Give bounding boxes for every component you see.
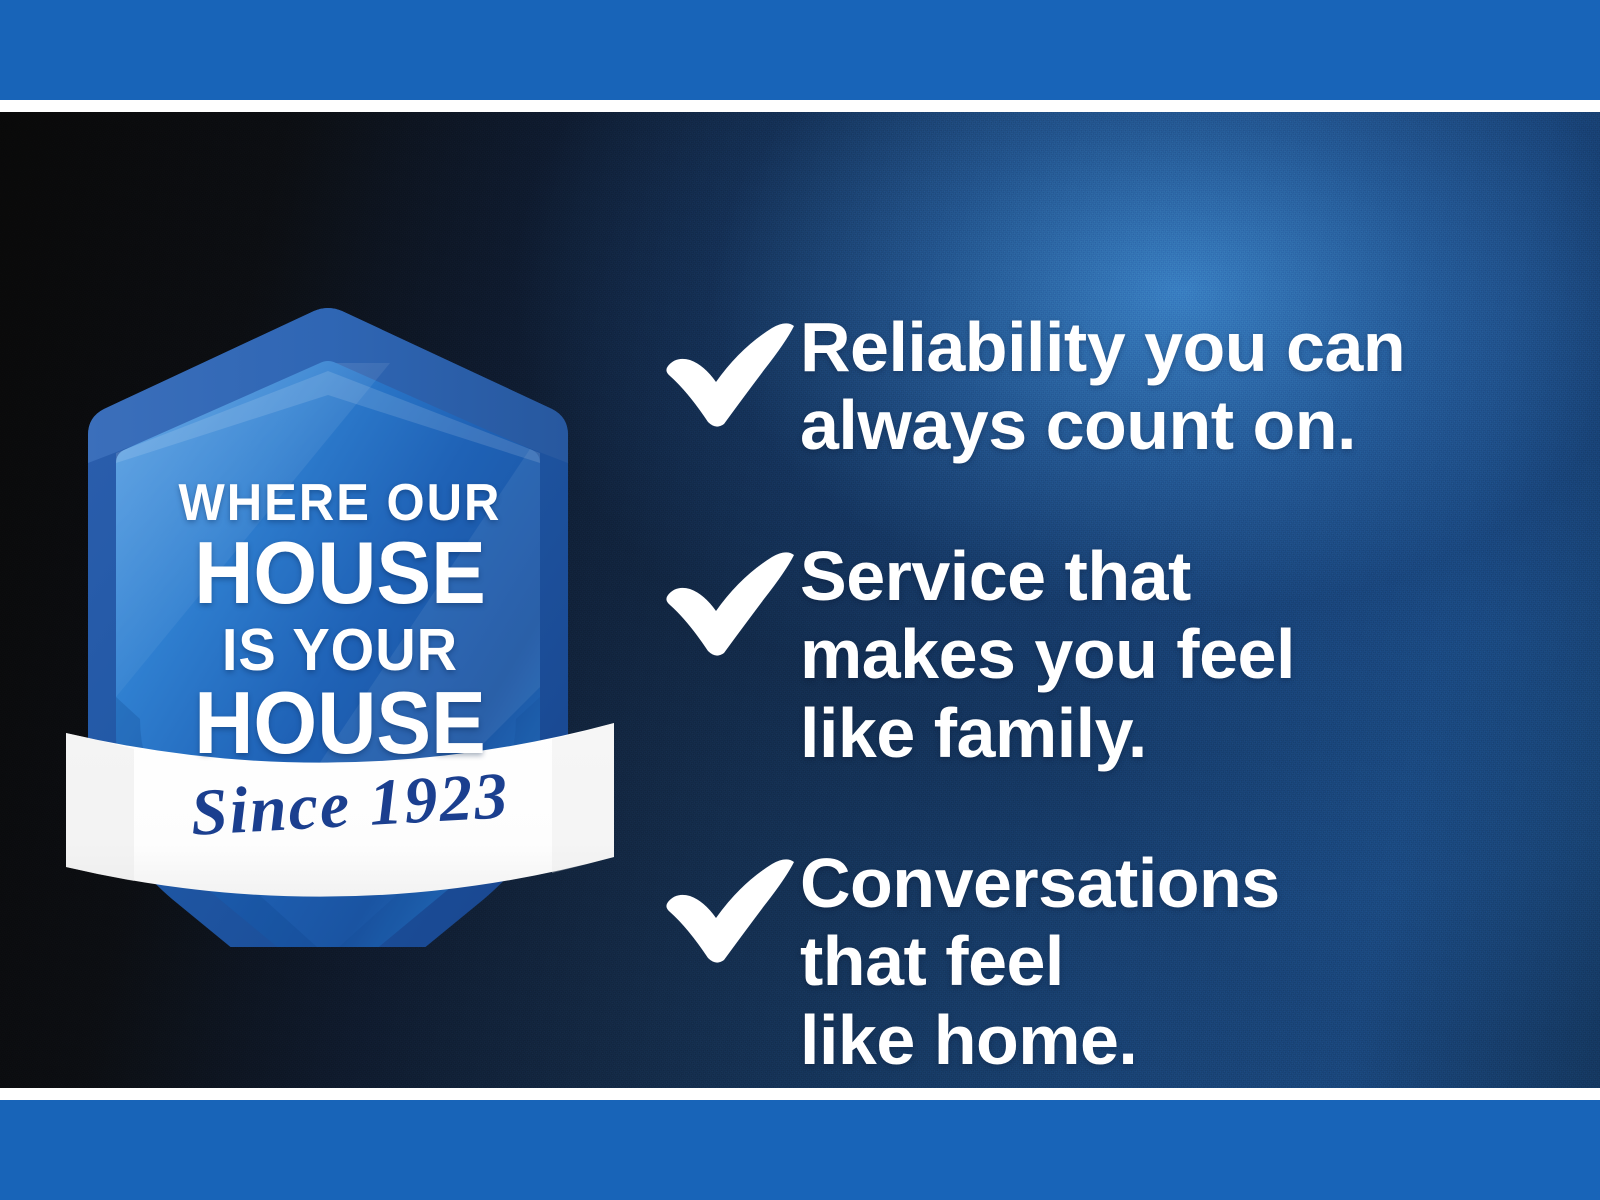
main-body-panel: WHERE OUR HOUSE IS YOUR HOUSE Since 1923… [0, 112, 1600, 1088]
checkmark-icon [660, 549, 800, 657]
checkmark-icon [660, 856, 800, 964]
ribbon-fold-right [552, 723, 614, 873]
top-white-divider [0, 100, 1600, 112]
bottom-white-divider [0, 1088, 1600, 1100]
shield-graphic [60, 267, 620, 947]
top-brand-bar [0, 0, 1600, 100]
ribbon-fold-left [66, 733, 134, 881]
list-item: Reliability you can always count on. [660, 302, 1540, 465]
list-item-text: Reliability you can always count on. [800, 302, 1540, 465]
list-item-text: Conversations that feel like home. [800, 838, 1540, 1079]
list-item-text: Service that makes you feel like family. [800, 531, 1540, 772]
benefits-list: Reliability you can always count on. Ser… [660, 302, 1540, 1079]
checkmark-icon [660, 320, 800, 428]
bottom-brand-bar [0, 1100, 1600, 1200]
list-item: Conversations that feel like home. [660, 838, 1540, 1079]
promo-poster: WHERE OUR HOUSE IS YOUR HOUSE Since 1923… [0, 0, 1600, 1200]
shield-logo: WHERE OUR HOUSE IS YOUR HOUSE Since 1923 [60, 267, 620, 947]
list-item: Service that makes you feel like family. [660, 531, 1540, 772]
